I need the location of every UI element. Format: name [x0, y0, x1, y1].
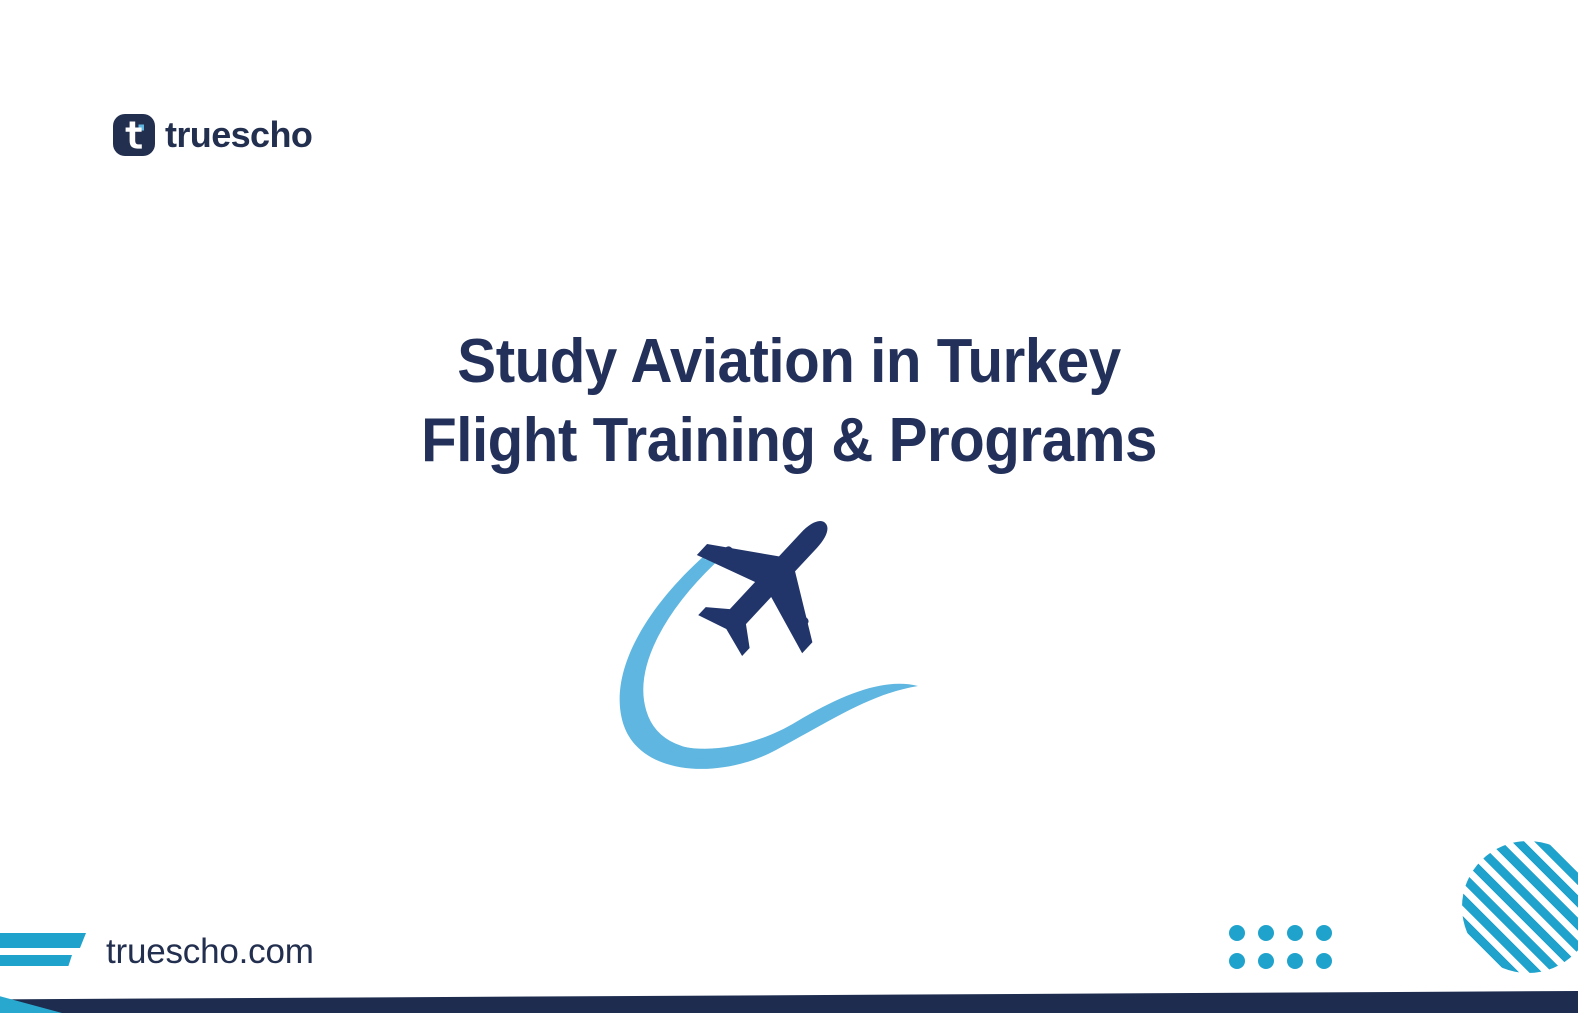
- airplane-icon: [668, 488, 878, 685]
- brand-wordmark: truescho: [165, 117, 312, 153]
- dot: [1316, 925, 1332, 941]
- dot: [1229, 953, 1245, 969]
- page-title: Study Aviation in Turkey Flight Training…: [0, 322, 1578, 481]
- footer-accent-bars-icon: [0, 933, 92, 967]
- dot: [1287, 953, 1303, 969]
- dot: [1287, 925, 1303, 941]
- dot: [1258, 953, 1274, 969]
- truescho-logomark-icon: [113, 114, 155, 156]
- page-title-line-1: Study Aviation in Turkey: [47, 322, 1530, 401]
- footer-bar-top: [0, 933, 86, 948]
- poster-canvas: truescho Study Aviation in Turkey Flight…: [0, 0, 1578, 1013]
- page-title-line-2: Flight Training & Programs: [47, 401, 1530, 480]
- footer-url[interactable]: truescho.com: [106, 929, 314, 975]
- striped-circle-icon: [1462, 841, 1578, 973]
- bottom-band-shape-icon: [0, 991, 1578, 1013]
- flight-trail-inner-icon: [639, 560, 728, 754]
- airplane-illustration: [600, 488, 940, 794]
- footer-bar-bottom: [0, 955, 72, 966]
- dot: [1316, 953, 1332, 969]
- dot-grid-icon: [1229, 925, 1332, 969]
- dot: [1229, 925, 1245, 941]
- dot: [1258, 925, 1274, 941]
- brand-logo[interactable]: truescho: [113, 114, 312, 156]
